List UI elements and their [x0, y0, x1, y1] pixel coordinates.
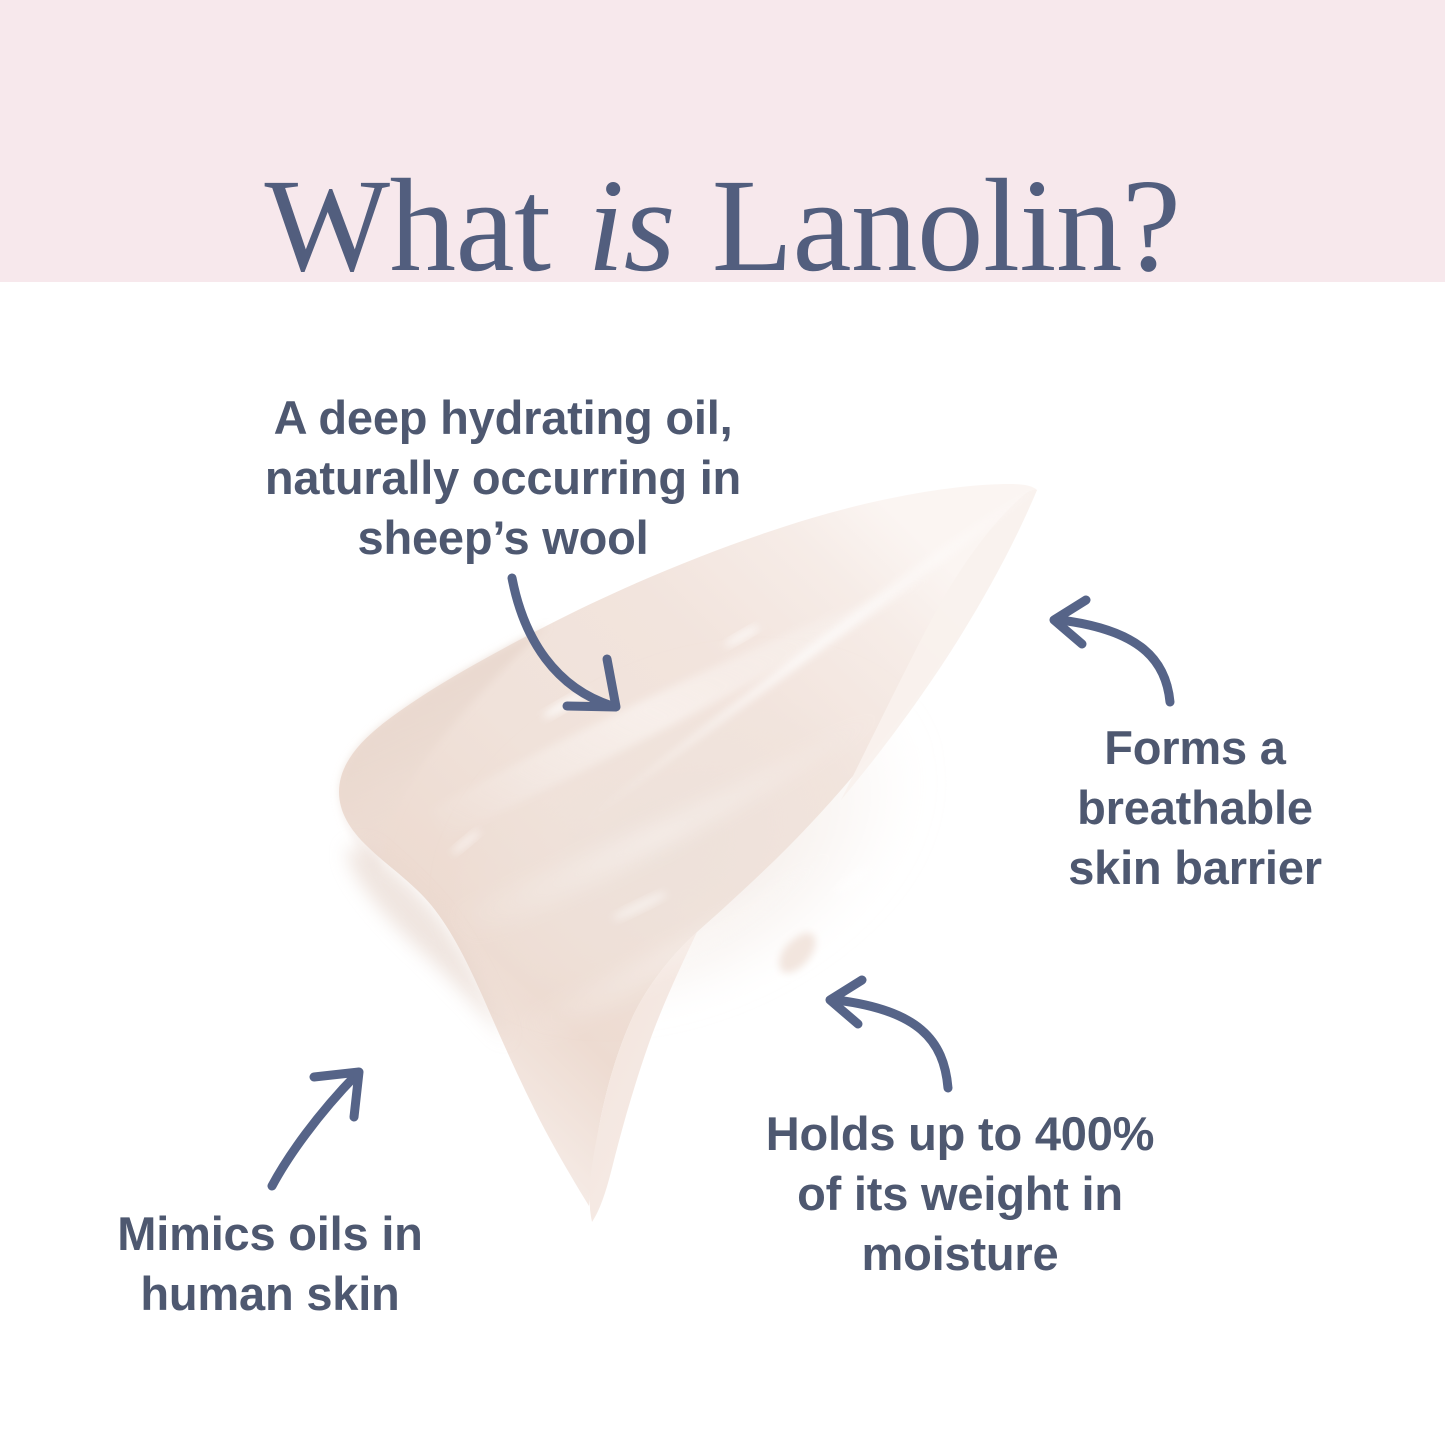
callout-barrier-label: Forms a breathable skin barrier	[1020, 718, 1370, 898]
infographic-canvas: What is Lanolin?	[0, 0, 1445, 1445]
cream-sparkle-3	[611, 888, 669, 923]
cream-sparkle-1	[541, 687, 591, 722]
cream-main-body	[339, 484, 1037, 1206]
cream-sparkle-5	[450, 827, 483, 856]
arrow-moisture	[830, 980, 948, 1088]
page-title-prefix: What	[265, 159, 584, 292]
page-title-emphasis: is	[583, 159, 679, 292]
cream-gloss-streak-3	[520, 826, 866, 1048]
page-title: What is Lanolin?	[0, 89, 1445, 371]
callout-hydrating-label: A deep hydrating oil, naturally occurrin…	[196, 388, 810, 568]
cream-core-shading	[410, 586, 991, 1075]
arrow-hydrating	[512, 578, 616, 707]
arrow-mimics	[272, 1072, 359, 1186]
cream-gloss-streak-2	[452, 698, 904, 944]
cream-sparkle-4	[833, 863, 874, 898]
page-title-suffix: Lanolin?	[679, 159, 1180, 292]
cream-sparkle-2	[723, 623, 762, 650]
cream-tip-blade	[841, 490, 1037, 800]
arrow-barrier	[1054, 600, 1170, 702]
cream-lower-shadow	[339, 625, 548, 876]
cream-gloss-streak-1	[430, 570, 948, 840]
callout-moisture-label: Holds up to 400% of its weight in moistu…	[680, 1104, 1240, 1284]
cream-underside-shadow	[347, 847, 508, 1042]
cream-flick-notch	[779, 933, 815, 973]
callout-mimics-label: Mimics oils in human skin	[60, 1204, 480, 1324]
